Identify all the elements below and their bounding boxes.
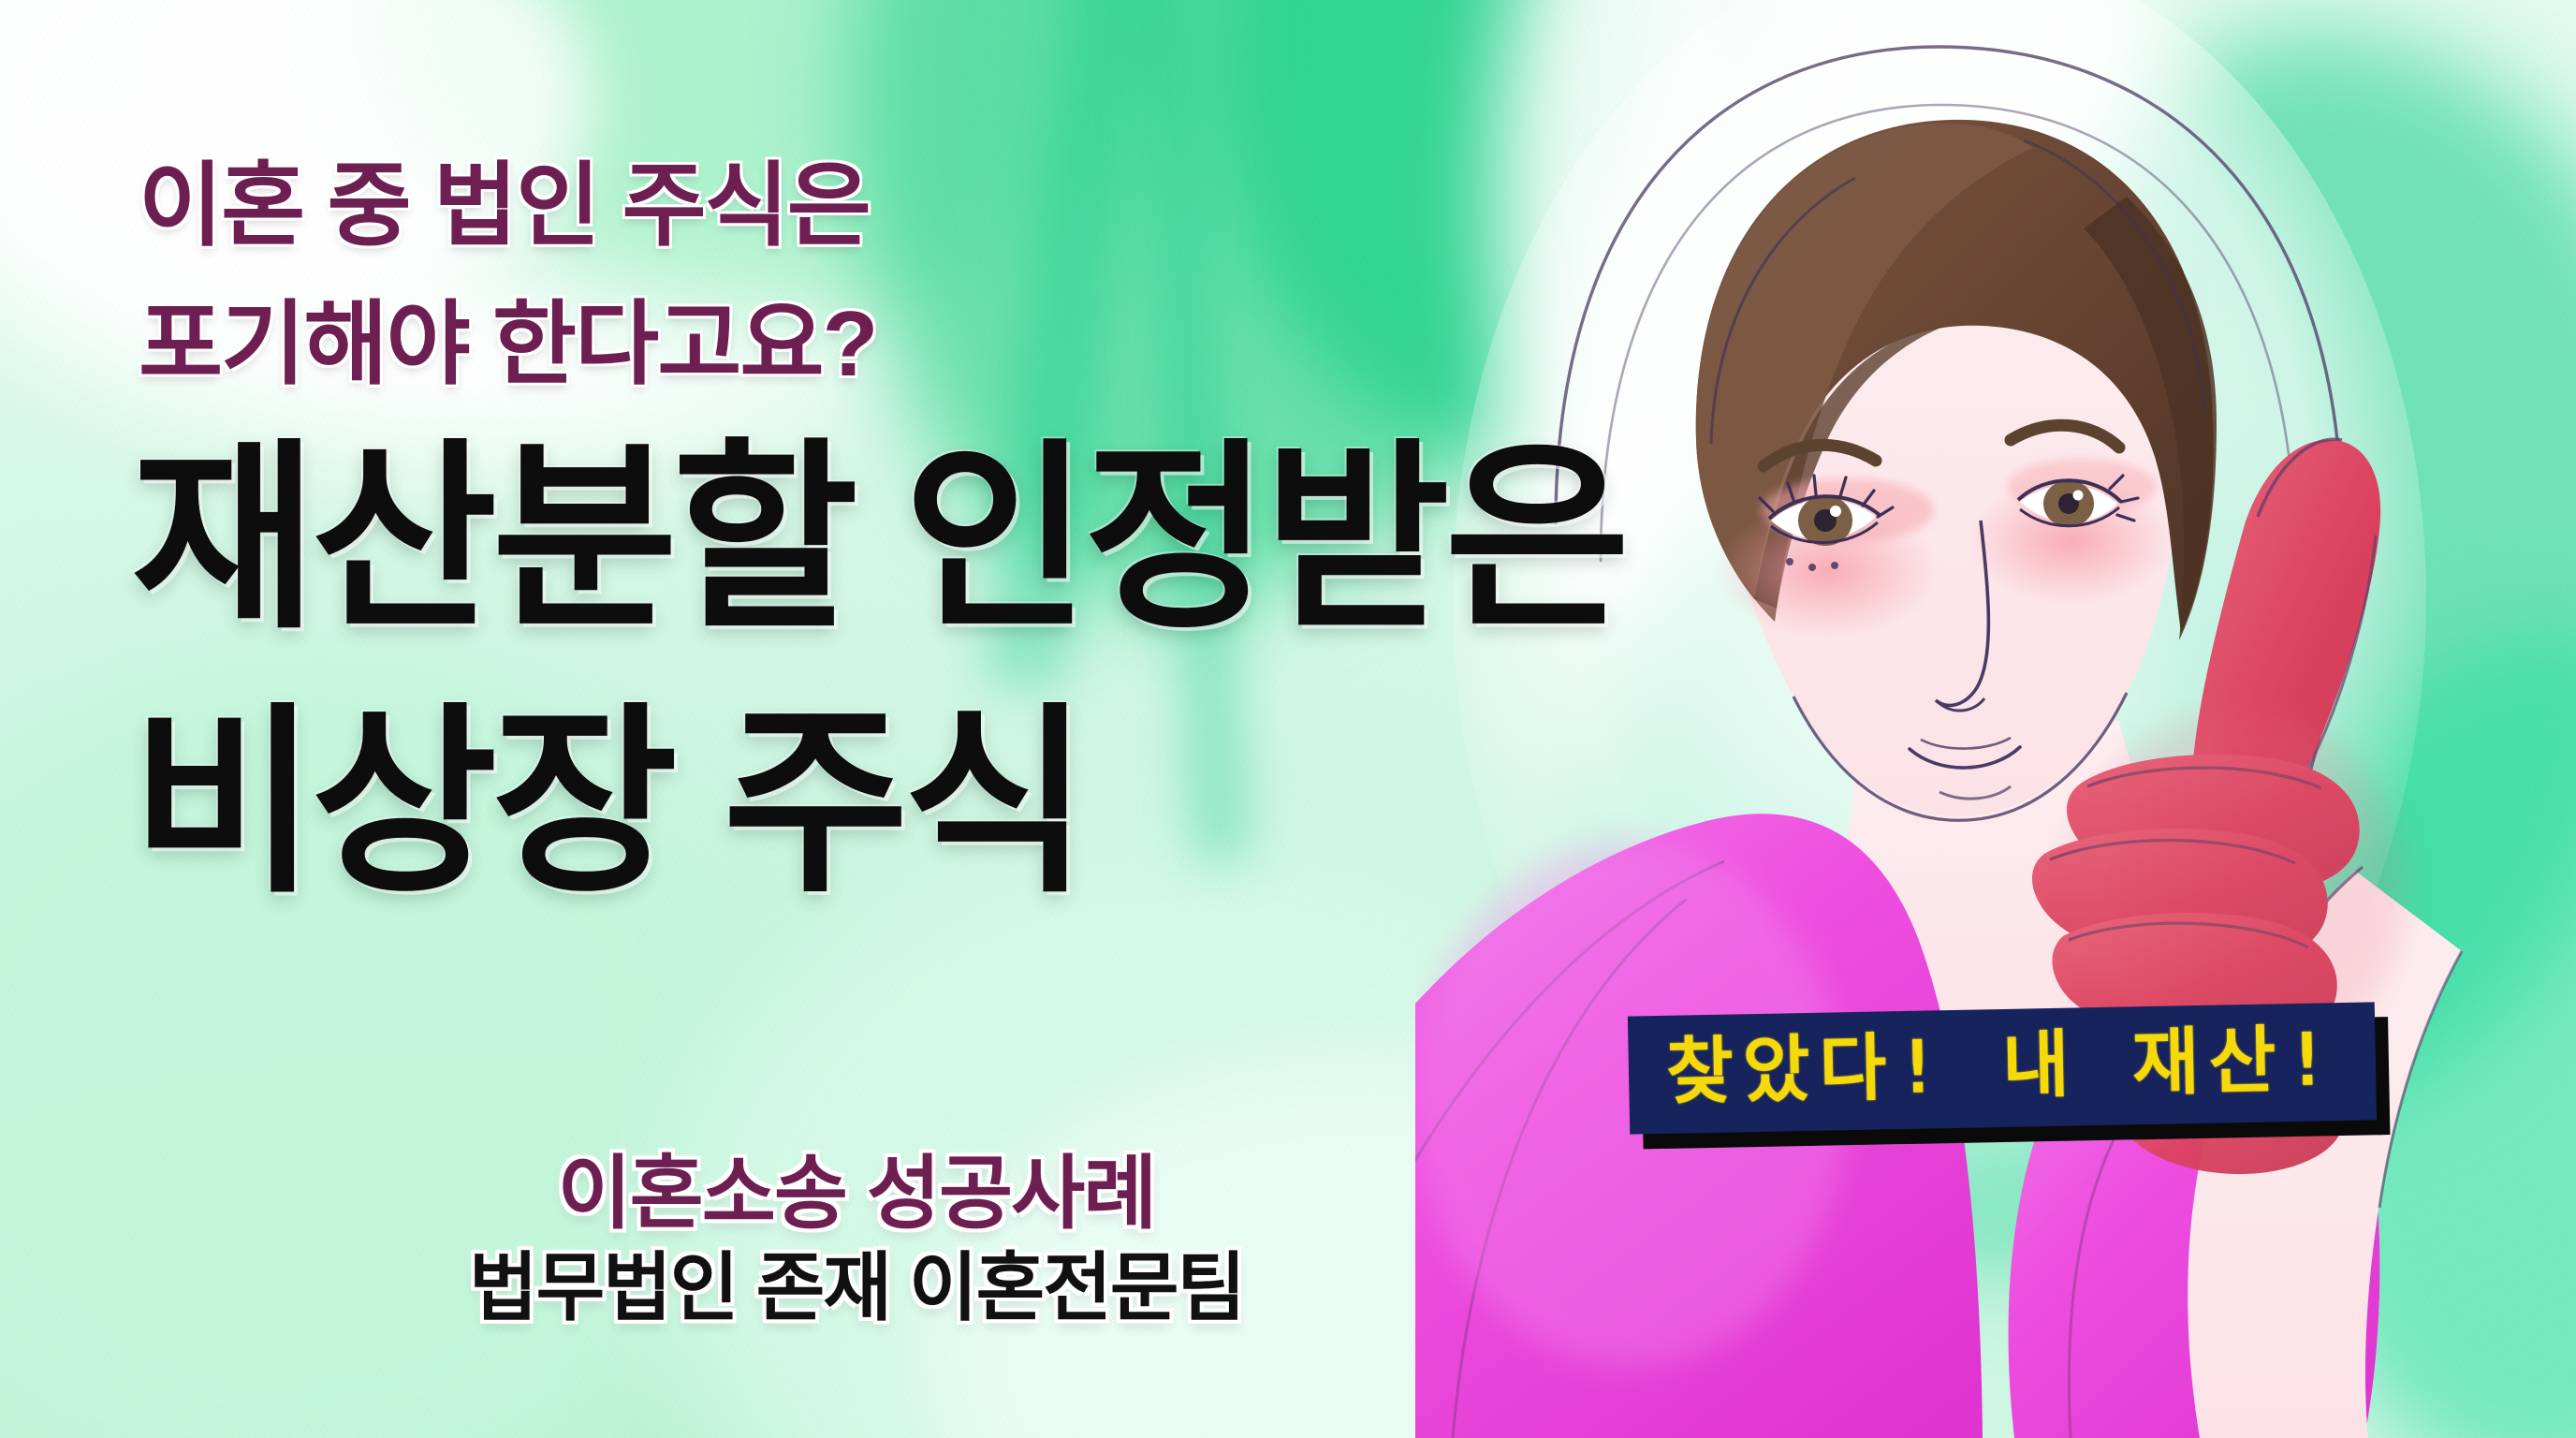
kicker-line-1: 이혼 중 법인 주식은 xyxy=(139,159,870,253)
footer-block: 이혼소송 성공사례 법무법인 존재 이혼전문팀 xyxy=(0,1152,1713,1328)
footer-line-2: 법무법인 존재 이혼전문팀 xyxy=(0,1249,1713,1328)
text-layer: 이혼 중 법인 주식은 포기해야 한다고요? 재산분할 인정받은 비상장 주식 … xyxy=(0,0,2576,1438)
headline-line-2: 비상장 주식 xyxy=(131,704,1084,902)
pixel-banner-text: 찾았다! 내 재산! xyxy=(1665,1023,2339,1109)
pixel-banner: 찾았다! 내 재산! xyxy=(1628,1002,2378,1134)
thumbnail-card: 이혼 중 법인 주식은 포기해야 한다고요? 재산분할 인정받은 비상장 주식 … xyxy=(0,0,2576,1438)
kicker-line-2: 포기해야 한다고요? xyxy=(139,298,876,391)
footer-line-1: 이혼소송 성공사례 xyxy=(0,1152,1713,1236)
headline-line-1: 재산분할 인정받은 xyxy=(131,440,1625,638)
